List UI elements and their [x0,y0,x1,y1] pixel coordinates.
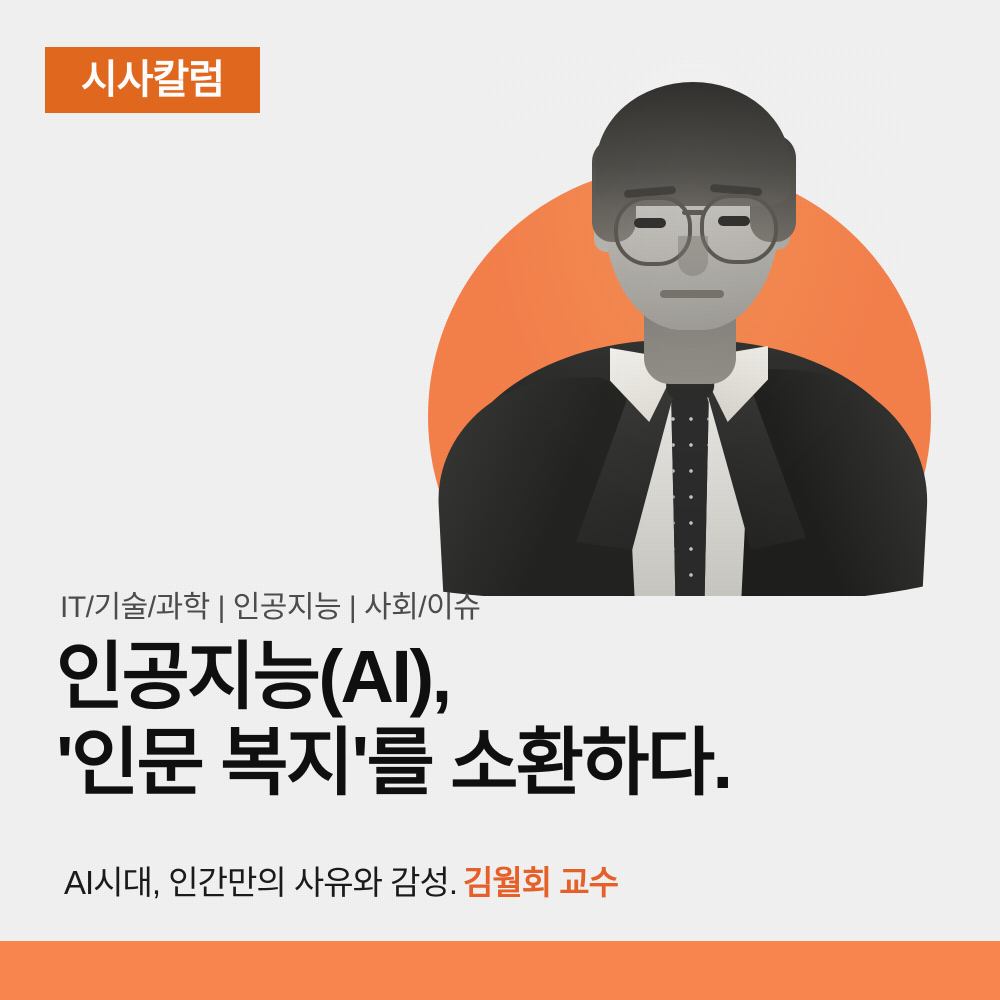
author-name: 김월회 교수 [463,864,618,901]
subheadline: AI시대, 인간만의 사유와 감성.김월회 교수 [64,856,618,904]
headline-line-1: 인공지능(AI), [56,635,450,718]
headline: 인공지능(AI), '인문 복지'를 소환하다. [56,634,731,806]
category-breadcrumb: IT/기술/과학 | 인공지능 | 사회/이슈 [60,582,480,626]
column-card: 시사칼럼 [0,0,1000,1000]
photo-tone-overlay [428,50,933,596]
category-badge-label: 시사칼럼 [81,60,224,100]
subheadline-text: AI시대, 인간만의 사유와 감성. [64,864,457,901]
portrait-clip-mask [428,50,933,596]
portrait-photo [428,50,933,596]
bottom-accent-bar [0,941,1000,1000]
headline-line-2: '인문 복지'를 소환하다. [56,720,731,806]
portrait-figure [428,50,933,596]
category-badge[interactable]: 시사칼럼 [45,47,260,113]
